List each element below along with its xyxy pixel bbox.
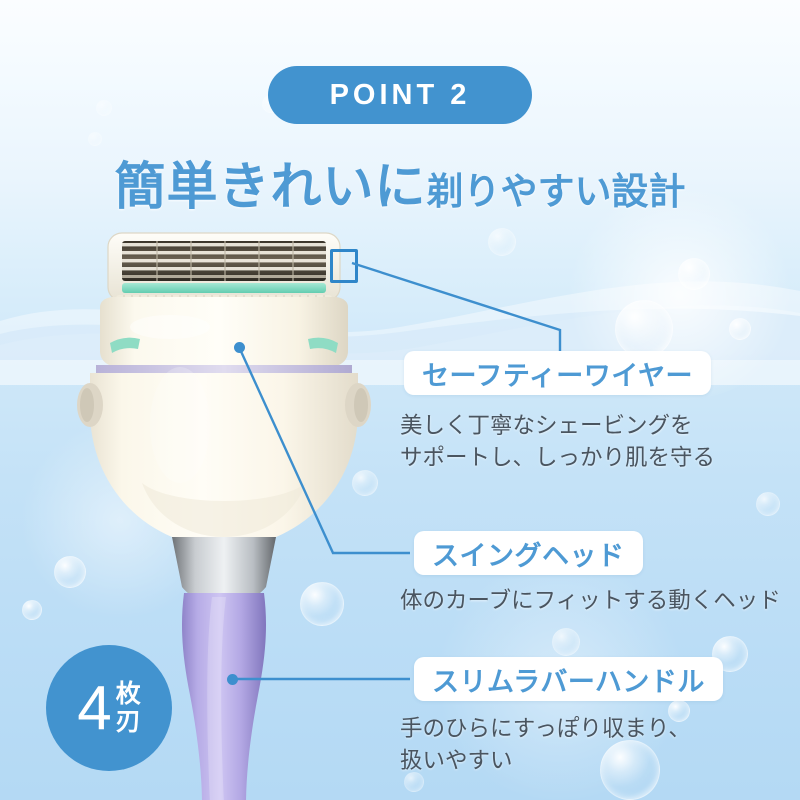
callout-label-text: セーフティーワイヤー [422, 354, 693, 393]
handle-pointer-dot [227, 674, 238, 685]
point-badge: POINT 2 [268, 66, 532, 124]
point-badge-label: POINT 2 [330, 79, 471, 112]
bubble [488, 228, 516, 256]
description-line: 扱いやすい [400, 745, 691, 777]
callout-label-slim-rubber-handle: スリムラバーハンドル [414, 657, 723, 701]
blade-count-badge: 4 枚 刃 [46, 645, 172, 771]
headline-rest: 剃りやすい設計 [427, 171, 686, 212]
swing-head-pointer-dot [234, 342, 245, 353]
advertisement-canvas: POINT 2 簡単きれいに剃りやすい設計 [0, 0, 800, 800]
blade-count-kanji: 枚 刃 [116, 680, 141, 736]
headline-emphasis: 簡単きれいに [114, 158, 426, 215]
description-line: サポートし、しっかり肌を守る [400, 442, 715, 474]
bubble [729, 318, 751, 340]
callout-description-slim-rubber-handle: 手のひらにすっぽり収まり、 扱いやすい [400, 713, 691, 777]
callout-description-swing-head: 体のカーブにフィットする動くヘッド [400, 585, 781, 617]
callout-label-swing-head: スイングヘッド [414, 531, 643, 575]
bubble [96, 100, 112, 116]
description-line: 体のカーブにフィットする動くヘッド [400, 585, 781, 617]
bubble [88, 132, 102, 146]
bubble [615, 300, 673, 358]
description-line: 手のひらにすっぽり収まり、 [400, 713, 691, 745]
bubble [22, 600, 42, 620]
callout-label-text: スリムラバーハンドル [432, 660, 705, 699]
safety-wire-highlight-marker [330, 249, 358, 283]
bubble [756, 492, 780, 516]
callout-label-text: スイングヘッド [432, 534, 625, 573]
blade-kanji-top: 枚 [116, 680, 141, 708]
blade-kanji-bottom: 刃 [116, 708, 141, 736]
blade-count-number: 4 [77, 678, 111, 740]
bubble [678, 258, 710, 290]
description-line: 美しく丁寧なシェービングを [400, 410, 715, 442]
page-title: 簡単きれいに剃りやすい設計 [0, 145, 800, 219]
callout-label-safety-wire: セーフティーワイヤー [404, 351, 711, 395]
bubble [552, 628, 580, 656]
callout-description-safety-wire: 美しく丁寧なシェービングを サポートし、しっかり肌を守る [400, 410, 715, 474]
